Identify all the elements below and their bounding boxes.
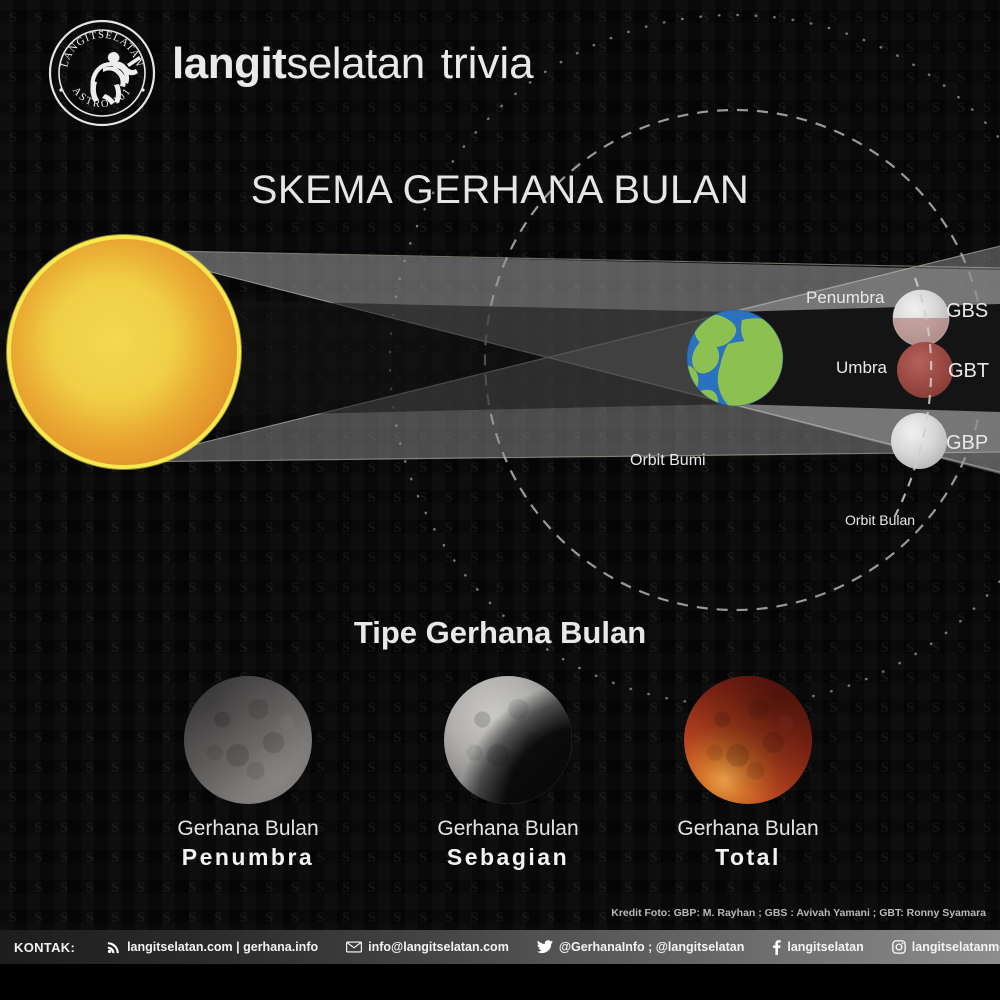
- wordmark-langit: langit: [172, 39, 286, 88]
- label-penumbra: Penumbra: [806, 288, 884, 308]
- footer-label: KONTAK:: [0, 940, 93, 955]
- twitter-icon: [537, 940, 553, 954]
- caption: Gerhana Bulan Total: [618, 816, 878, 872]
- footer-item-text: langitselatan.com | gerhana.info: [127, 940, 318, 954]
- moon-gbp: [891, 413, 947, 469]
- svg-text:ASTRO 101: ASTRO 101: [70, 85, 134, 110]
- moon-photo-penumbral: [184, 676, 312, 804]
- facebook-icon: [772, 940, 781, 955]
- moon-photo-partial: [444, 676, 572, 804]
- caption-line1: Gerhana Bulan: [118, 816, 378, 842]
- label-orbit-bumi: Orbit Bumi: [630, 452, 706, 470]
- caption-line2: Penumbra: [118, 842, 378, 872]
- wordmark-selatan: selatan: [286, 39, 424, 88]
- footer-item-text: langitselatanmedia: [912, 940, 1000, 954]
- shadow-overlay: [444, 676, 572, 804]
- sun: [9, 237, 239, 467]
- photo-credit: Kredit Foto: GBP: M. Rayhan ; GBS : Aviv…: [611, 907, 986, 919]
- page-header: LANGITSELATAN ASTRO 101 langitselatantri…: [0, 0, 1000, 140]
- caption: Gerhana Bulan Sebagian: [378, 816, 638, 872]
- instagram-icon: [892, 940, 906, 954]
- eclipse-type-penumbral: Gerhana Bulan Penumbra: [118, 676, 378, 872]
- label-orbit-bulan: Orbit Bulan: [845, 512, 915, 528]
- footer-item-email[interactable]: info@langitselatan.com: [332, 940, 523, 954]
- caption-line1: Gerhana Bulan: [378, 816, 638, 842]
- footer-item-twitter[interactable]: @GerhanaInfo ; @langitselatan: [523, 940, 759, 954]
- label-gbt: GBT: [948, 360, 989, 383]
- moon-gbt: [897, 342, 953, 398]
- caption: Gerhana Bulan Penumbra: [118, 816, 378, 872]
- page-title: SKEMA GERHANA BULAN: [0, 168, 1000, 213]
- rss-icon: [107, 940, 121, 954]
- eclipse-type-total: Gerhana Bulan Total: [618, 676, 878, 872]
- footer-item-facebook[interactable]: langitselatan: [758, 940, 877, 955]
- label-gbp: GBP: [946, 432, 988, 455]
- infographic-canvas: ssssssssssssssssssssssssssssssssssssssss…: [0, 0, 1000, 1000]
- footer-bottom-strip: [0, 964, 1000, 1000]
- shadow-overlay: [184, 676, 312, 804]
- label-gbs: GBS: [946, 300, 988, 323]
- footer-item-text: langitselatan: [787, 940, 863, 954]
- footer-item-text: info@langitselatan.com: [368, 940, 509, 954]
- shadow-overlay: [684, 676, 812, 804]
- section-title: Tipe Gerhana Bulan: [0, 615, 1000, 651]
- logo-bottom-text: ASTRO 101: [70, 85, 134, 110]
- envelope-icon: [346, 941, 362, 953]
- eclipse-type-partial: Gerhana Bulan Sebagian: [378, 676, 638, 872]
- contact-footer: KONTAK: langitselatan.com | gerhana.info…: [0, 930, 1000, 964]
- footer-item-website[interactable]: langitselatan.com | gerhana.info: [93, 940, 332, 954]
- label-umbra: Umbra: [836, 358, 887, 378]
- caption-line2: Sebagian: [378, 842, 638, 872]
- langitselatan-logo-icon[interactable]: LANGITSELATAN ASTRO 101: [47, 18, 157, 128]
- caption-line2: Total: [618, 842, 878, 872]
- footer-item-instagram[interactable]: langitselatanmedia: [878, 940, 1000, 954]
- wordmark-trivia: trivia: [441, 39, 534, 88]
- wordmark: langitselatantrivia: [172, 40, 534, 88]
- logo-rider-figure: [90, 52, 141, 105]
- moon-photo-total: [684, 676, 812, 804]
- caption-line1: Gerhana Bulan: [618, 816, 878, 842]
- footer-item-text: @GerhanaInfo ; @langitselatan: [559, 940, 745, 954]
